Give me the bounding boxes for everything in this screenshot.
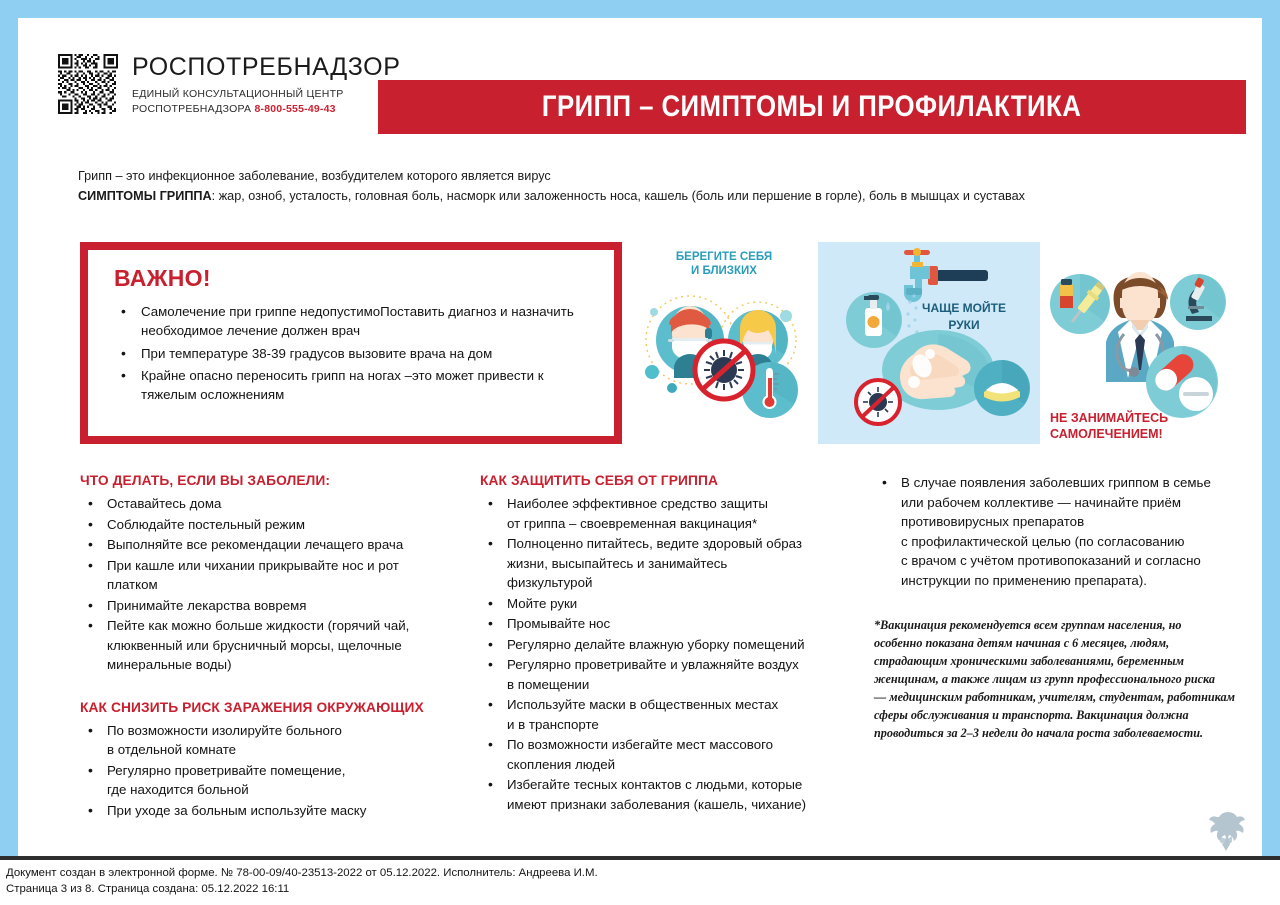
list-item-line: Промывайте нос <box>507 614 872 634</box>
list-item-line: Соблюдайте постельный режим <box>107 515 472 535</box>
wash-hands-panel: ЧАЩЕ МОЙТЕ РУКИ <box>818 242 1040 444</box>
list-item: При кашле или чихании прикрывайте нос и … <box>80 556 472 595</box>
list-item: Регулярно проветривайте помещение,где на… <box>80 761 472 800</box>
consult-center-phone-line: РОСПОТРЕБНАДЗОРА 8-800-555-49-43 <box>132 102 401 117</box>
list-item: Регулярно проветривайте и увлажняйте воз… <box>480 655 872 694</box>
list-item-line: в помещении <box>507 675 872 695</box>
list-item: По возможности изолируйте больногов отде… <box>80 721 472 760</box>
qr-code-icon <box>58 54 118 114</box>
list-item-line: При уходе за больным используйте маску <box>107 801 472 821</box>
doc-footer-line-1: Документ создан в электронной форме. № 7… <box>6 866 1280 882</box>
panel2-caption-line2: РУКИ <box>948 318 979 332</box>
list-item-line: имеют признаки заболевания (кашель, чиха… <box>507 795 872 815</box>
list-item: Полноценно питайтесь, ведите здоровый об… <box>480 534 872 593</box>
intro-line-1: Грипп – это инфекционное заболевание, во… <box>78 166 1206 186</box>
important-title: ВАЖНО! <box>114 265 596 292</box>
panel1-caption-line1: БЕРЕГИТЕ СЕБЯ <box>676 251 772 263</box>
important-callout-box: ВАЖНО! Самолечение при гриппе недопустим… <box>80 242 622 444</box>
brand-subtitle: ЕДИНЫЙ КОНСУЛЬТАЦИОННЫЙ ЦЕНТР РОСПОТРЕБН… <box>132 87 401 117</box>
list-item-line: платком <box>107 575 472 595</box>
list-item: Мойте руки <box>480 594 872 614</box>
list-item-line: При кашле или чихании прикрывайте нос и … <box>107 556 472 576</box>
intro-line-2: СИМПТОМЫ ГРИППА: жар, озноб, усталость, … <box>78 186 1206 206</box>
column-how-to-protect: КАК ЗАЩИТИТЬ СЕБЯ ОТ ГРИППА Наиболее эфф… <box>480 473 872 816</box>
list-item-line: с профилактической целью (по согласовани… <box>901 532 1254 552</box>
list-item-line: Самолечение при гриппе недопустимо <box>141 304 380 319</box>
list-item-line: Регулярно делайте влажную уборку помещен… <box>507 635 872 655</box>
list-item-line: Избегайте тесных контактов с людьми, кот… <box>507 775 872 795</box>
list-item-line: противовирусных препаратов <box>901 512 1254 532</box>
brand-block: РОСПОТРЕБНАДЗОР ЕДИНЫЙ КОНСУЛЬТАЦИОННЫЙ … <box>58 54 401 117</box>
list-item-line: скопления людей <box>507 755 872 775</box>
list-item-line: Принимайте лекарства вовремя <box>107 596 472 616</box>
list-item-line: Наиболее эффективное средство защиты <box>507 494 872 514</box>
footnote-line: *Вакцинация рекомендуется всем группам н… <box>874 616 1254 634</box>
list-item-line: Крайне опасно переносить грипп на ногах … <box>141 368 412 383</box>
list-item-line: В случае появления заболевших гриппом в … <box>901 473 1254 493</box>
list-item-line: По возможности избегайте мест массового <box>507 735 872 755</box>
list-item-line: Используйте маски в общественных местах <box>507 695 872 715</box>
list-how-to-protect: Наиболее эффективное средство защитыот г… <box>480 494 872 815</box>
list-item-line: инструкции по применению препарата). <box>901 571 1254 591</box>
list-item: Пейте как можно больше жидкости (горячий… <box>80 616 472 675</box>
vaccination-footnote: *Вакцинация рекомендуется всем группам н… <box>874 616 1254 742</box>
panel3-caption-line2: САМОЛЕЧЕНИЕМ! <box>1050 427 1163 441</box>
document-footer: Документ создан в электронной форме. № 7… <box>0 858 1280 905</box>
double-headed-eagle-emblem <box>1204 808 1248 854</box>
list-item: Принимайте лекарства вовремя <box>80 596 472 616</box>
symptoms-text: : жар, озноб, усталость, головная боль, … <box>212 188 1025 203</box>
heading-what-to-do: ЧТО ДЕЛАТЬ, ЕСЛИ ВЫ ЗАБОЛЕЛИ: <box>80 473 460 489</box>
brand-text: РОСПОТРЕБНАДЗОР ЕДИНЫЙ КОНСУЛЬТАЦИОННЫЙ … <box>132 54 401 117</box>
doc-footer-line-2: Страница 3 из 8. Страница создана: 05.12… <box>6 882 1280 898</box>
brand-name: РОСПОТРЕБНАДЗОР <box>132 55 401 80</box>
hotline-phone[interactable]: 8-800-555-49-43 <box>254 103 335 115</box>
list-item-line: Оставайтесь дома <box>107 494 472 514</box>
no-self-medication-panel: НЕ ЗАНИМАЙТЕСЬ САМОЛЕЧЕНИЕМ! <box>1046 242 1250 444</box>
list-item: При уходе за больным используйте маску <box>80 801 472 821</box>
list-prophylaxis: В случае появления заболевших гриппом в … <box>874 473 1254 590</box>
list-item: Оставайтесь дома <box>80 494 472 514</box>
list-item: В случае появления заболевших гриппом в … <box>874 473 1254 590</box>
footnote-line: — медицинским работникам, учителям, студ… <box>874 688 1254 706</box>
list-item-line: или рабочем коллективе — начинайте приём <box>901 493 1254 513</box>
list-item-line: физкультурой <box>507 573 872 593</box>
panel1-caption-line2: И БЛИЗКИХ <box>691 265 757 277</box>
list-item: Избегайте тесных контактов с людьми, кот… <box>480 775 872 814</box>
list-item-line: в отдельной комнате <box>107 740 472 760</box>
list-item: Регулярно делайте влажную уборку помещен… <box>480 635 872 655</box>
consult-center-line: ЕДИНЫЙ КОНСУЛЬТАЦИОННЫЙ ЦЕНТР <box>132 87 401 102</box>
footnote-line: страдающим хроническими заболеваниями, б… <box>874 652 1254 670</box>
panel2-caption-line1: ЧАЩЕ МОЙТЕ <box>922 300 1006 315</box>
list-item-line: с врачом с учётом противопоказаний и сог… <box>901 551 1254 571</box>
list-item-line: Мойте руки <box>507 594 872 614</box>
list-item-line: Выполняйте все рекомендации лечащего вра… <box>107 535 472 555</box>
list-item: Используйте маски в общественных местахи… <box>480 695 872 734</box>
list-item: Самолечение при гриппе недопустимоПостав… <box>114 302 596 341</box>
heading-reduce-risk: КАК СНИЗИТЬ РИСК ЗАРАЖЕНИЯ ОКРУЖАЮЩИХ <box>80 700 460 716</box>
footnote-line: сферы обслуживания и транспорта. Вакцина… <box>874 706 1254 724</box>
list-item-line: Полноценно питайтесь, ведите здоровый об… <box>507 534 872 554</box>
footnote-line: проводиться за 2–3 недели до начала рост… <box>874 724 1254 742</box>
document-page: РОСПОТРЕБНАДЗОР ЕДИНЫЙ КОНСУЛЬТАЦИОННЫЙ … <box>18 18 1262 856</box>
list-item: Наиболее эффективное средство защитыот г… <box>480 494 872 533</box>
list-item-line: где находится больной <box>107 780 472 800</box>
footnote-line: особенно показана детям начиная с 6 меся… <box>874 634 1254 652</box>
important-list: Самолечение при гриппе недопустимоПостав… <box>114 302 596 404</box>
list-item-line: По возможности изолируйте больного <box>107 721 472 741</box>
list-item-line: Регулярно проветривайте помещение, <box>107 761 472 781</box>
footnote-line: женщинам, а также лицам из групп професс… <box>874 670 1254 688</box>
list-item-line: от гриппа – своевременная вакцинация* <box>507 514 872 534</box>
list-item-line: минеральные воды) <box>107 655 472 675</box>
list-item: Выполняйте все рекомендации лечащего вра… <box>80 535 472 555</box>
column-prophylaxis: В случае появления заболевших гриппом в … <box>874 473 1254 743</box>
page-title: ГРИПП – СИМПТОМЫ И ПРОФИЛАКТИКА <box>542 90 1081 124</box>
list-item-line: и в транспорте <box>507 715 872 735</box>
list-item: По возможности избегайте мест массовогос… <box>480 735 872 774</box>
list-item: Крайне опасно переносить грипп на ногах … <box>114 366 596 405</box>
list-item-line: клюквенный или брусничный морсы, щелочны… <box>107 636 472 656</box>
title-banner: ГРИПП – СИМПТОМЫ И ПРОФИЛАКТИКА <box>378 80 1246 134</box>
list-item-line: Регулярно проветривайте и увлажняйте воз… <box>507 655 872 675</box>
page-header: РОСПОТРЕБНАДЗОР ЕДИНЫЙ КОНСУЛЬТАЦИОННЫЙ … <box>18 18 1262 130</box>
list-item-line: Пейте как можно больше жидкости (горячий… <box>107 616 472 636</box>
list-item-line: жизни, высыпайтесь и занимайтесь <box>507 554 872 574</box>
intro-block: Грипп – это инфекционное заболевание, во… <box>78 166 1253 207</box>
brand-sub-line2: РОСПОТРЕБНАДЗОРА <box>132 103 251 115</box>
list-what-to-do: Оставайтесь домаСоблюдайте постельный ре… <box>80 494 472 675</box>
list-item: При температуре 38-39 градусов вызовите … <box>114 344 596 363</box>
protect-yourself-panel: БЕРЕГИТЕ СЕБЯ И БЛИЗКИХ <box>636 242 812 444</box>
list-item-line: При температуре 38-39 градусов вызовите … <box>141 346 492 361</box>
column-what-to-do: ЧТО ДЕЛАТЬ, ЕСЛИ ВЫ ЗАБОЛЕЛИ: Оставайтес… <box>80 473 472 821</box>
list-reduce-risk: По возможности изолируйте больногов отде… <box>80 721 472 821</box>
heading-how-to-protect: КАК ЗАЩИТИТЬ СЕБЯ ОТ ГРИППА <box>480 473 860 489</box>
symptoms-label: СИМПТОМЫ ГРИППА <box>78 188 212 203</box>
panel3-caption-line1: НЕ ЗАНИМАЙТЕСЬ <box>1050 410 1168 425</box>
list-item: Промывайте нос <box>480 614 872 634</box>
list-item: Соблюдайте постельный режим <box>80 515 472 535</box>
